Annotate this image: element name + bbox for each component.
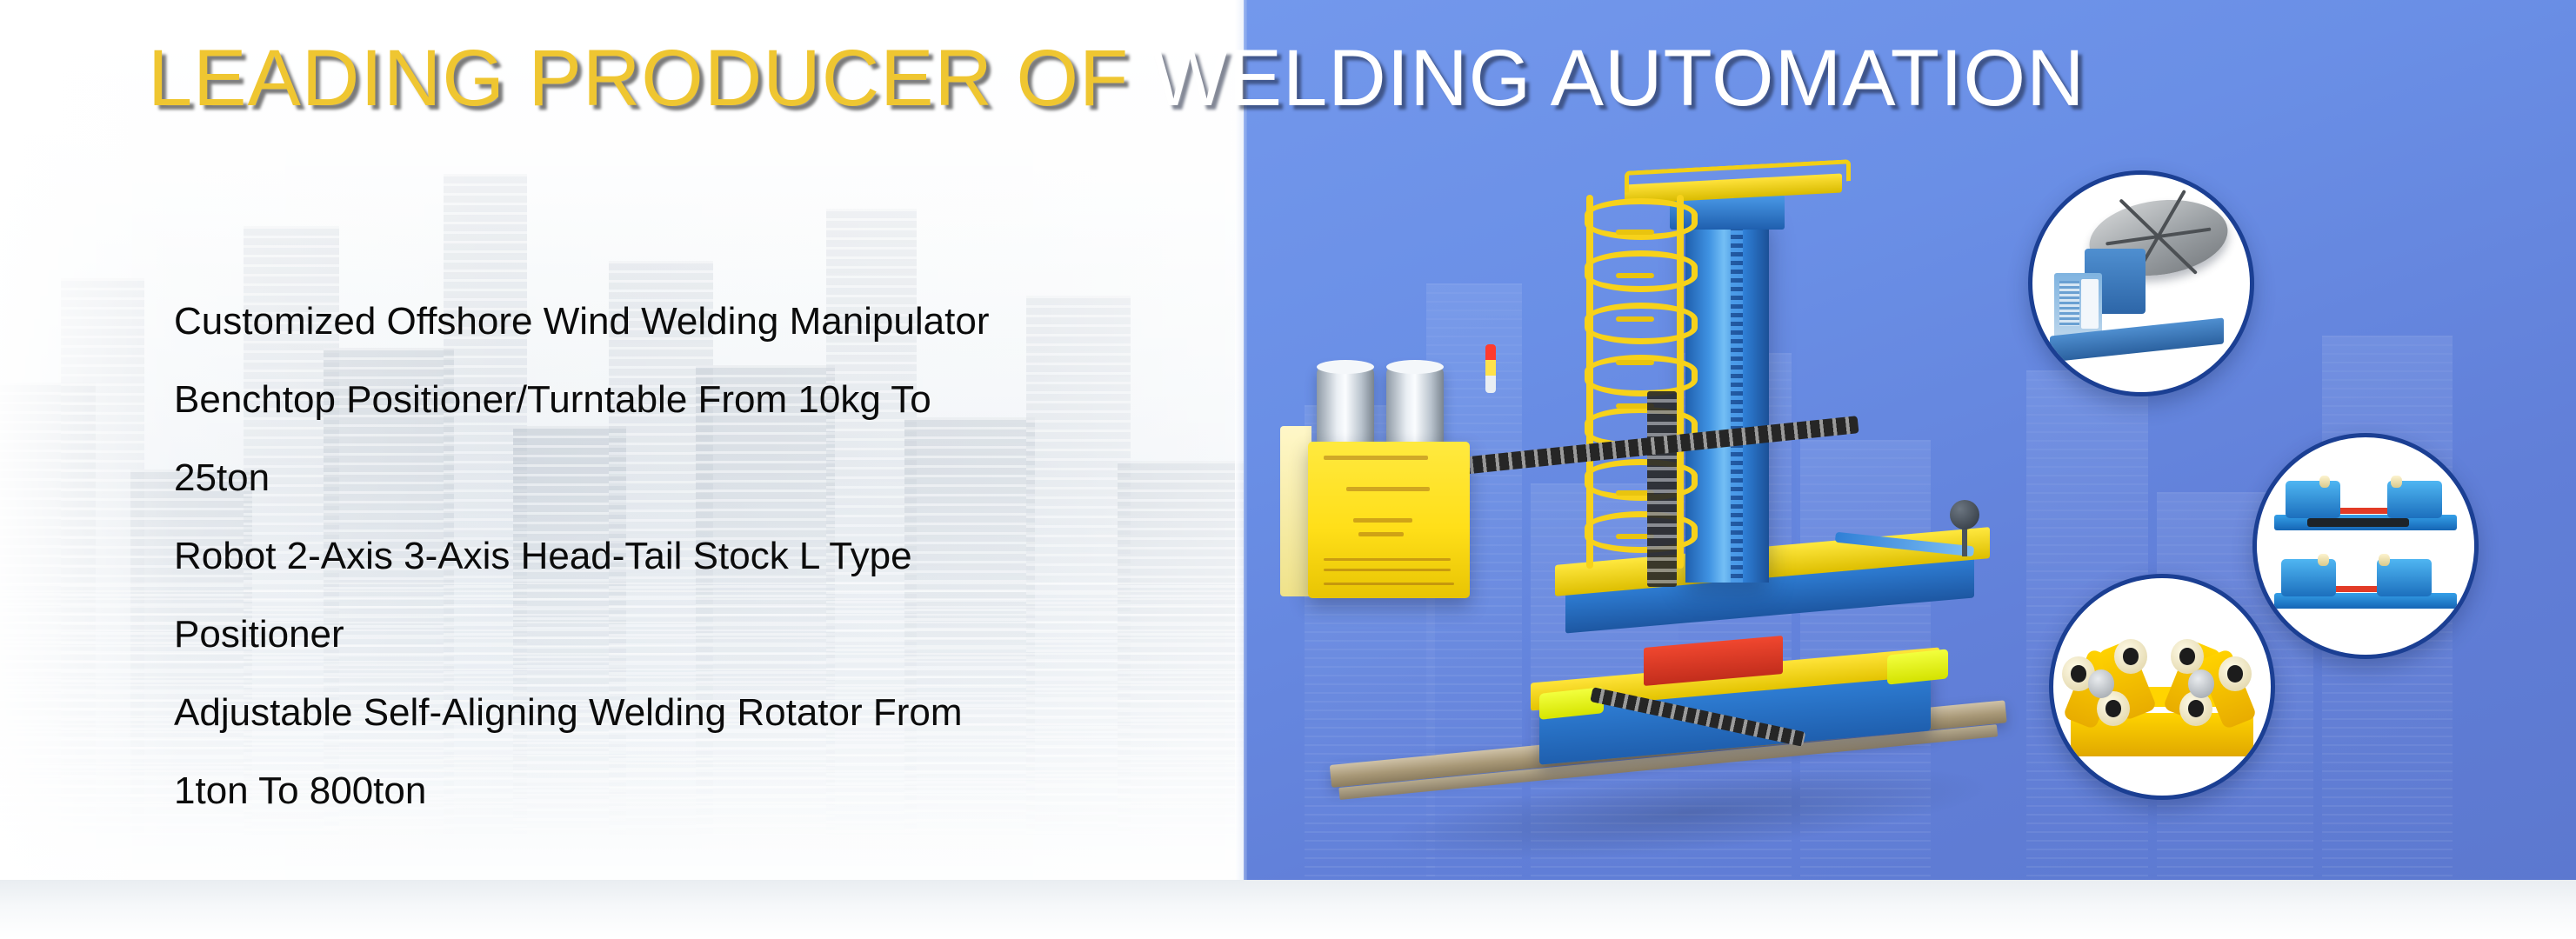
headline-part-yellow: LEADING PRODUCER OF xyxy=(148,34,1129,123)
sensor-ball xyxy=(1950,500,1979,529)
control-cabinet-side xyxy=(1280,426,1311,596)
copy-line: Positioner xyxy=(174,596,1218,674)
panel-seam-divider xyxy=(1235,0,1247,892)
yellow-foot-right xyxy=(1887,649,1948,684)
positioner-control-box xyxy=(2054,273,2102,338)
thumbnail-welding-positioner[interactable] xyxy=(2028,170,2254,396)
rotator-lower xyxy=(2274,559,2457,620)
copy-line: 1ton To 800ton xyxy=(174,752,1218,830)
copy-line: Benchtop Positioner/Turntable From 10kg … xyxy=(174,361,1218,439)
yellow-control-cabinet xyxy=(1308,442,1470,598)
welding-manipulator-illustration xyxy=(1278,165,2061,887)
bottom-white-strip xyxy=(0,880,2576,939)
thumbnail-yellow-self-aligning-rotator[interactable] xyxy=(2049,574,2275,800)
sensor-stem xyxy=(1962,527,1967,556)
headline-part-white: WELDING AUTOMATION xyxy=(1152,34,2085,123)
copy-line: 25ton xyxy=(174,439,1218,517)
copy-line: Robot 2-Axis 3-Axis Head-Tail Stock L Ty… xyxy=(174,517,1218,596)
cylinder-cap-right xyxy=(1386,360,1444,374)
cylinder-cap-left xyxy=(1317,360,1374,374)
column-gear-rack xyxy=(1731,217,1743,583)
banner-headline: LEADING PRODUCER OF WELDING AUTOMATION xyxy=(148,38,2085,118)
rotator-upper xyxy=(2274,481,2457,542)
promo-banner: LEADING PRODUCER OF WELDING AUTOMATION C… xyxy=(0,0,2576,939)
vertical-drag-chain xyxy=(1647,391,1677,587)
product-highlight-list: Customized Offshore Wind Welding Manipul… xyxy=(174,283,1218,830)
vertical-column xyxy=(1685,217,1769,583)
thumbnail-blue-welding-rotators[interactable] xyxy=(2252,433,2479,659)
copy-line: Customized Offshore Wind Welding Manipul… xyxy=(174,283,1218,361)
copy-line: Adjustable Self-Aligning Welding Rotator… xyxy=(174,674,1218,752)
signal-beacon xyxy=(1485,344,1496,393)
